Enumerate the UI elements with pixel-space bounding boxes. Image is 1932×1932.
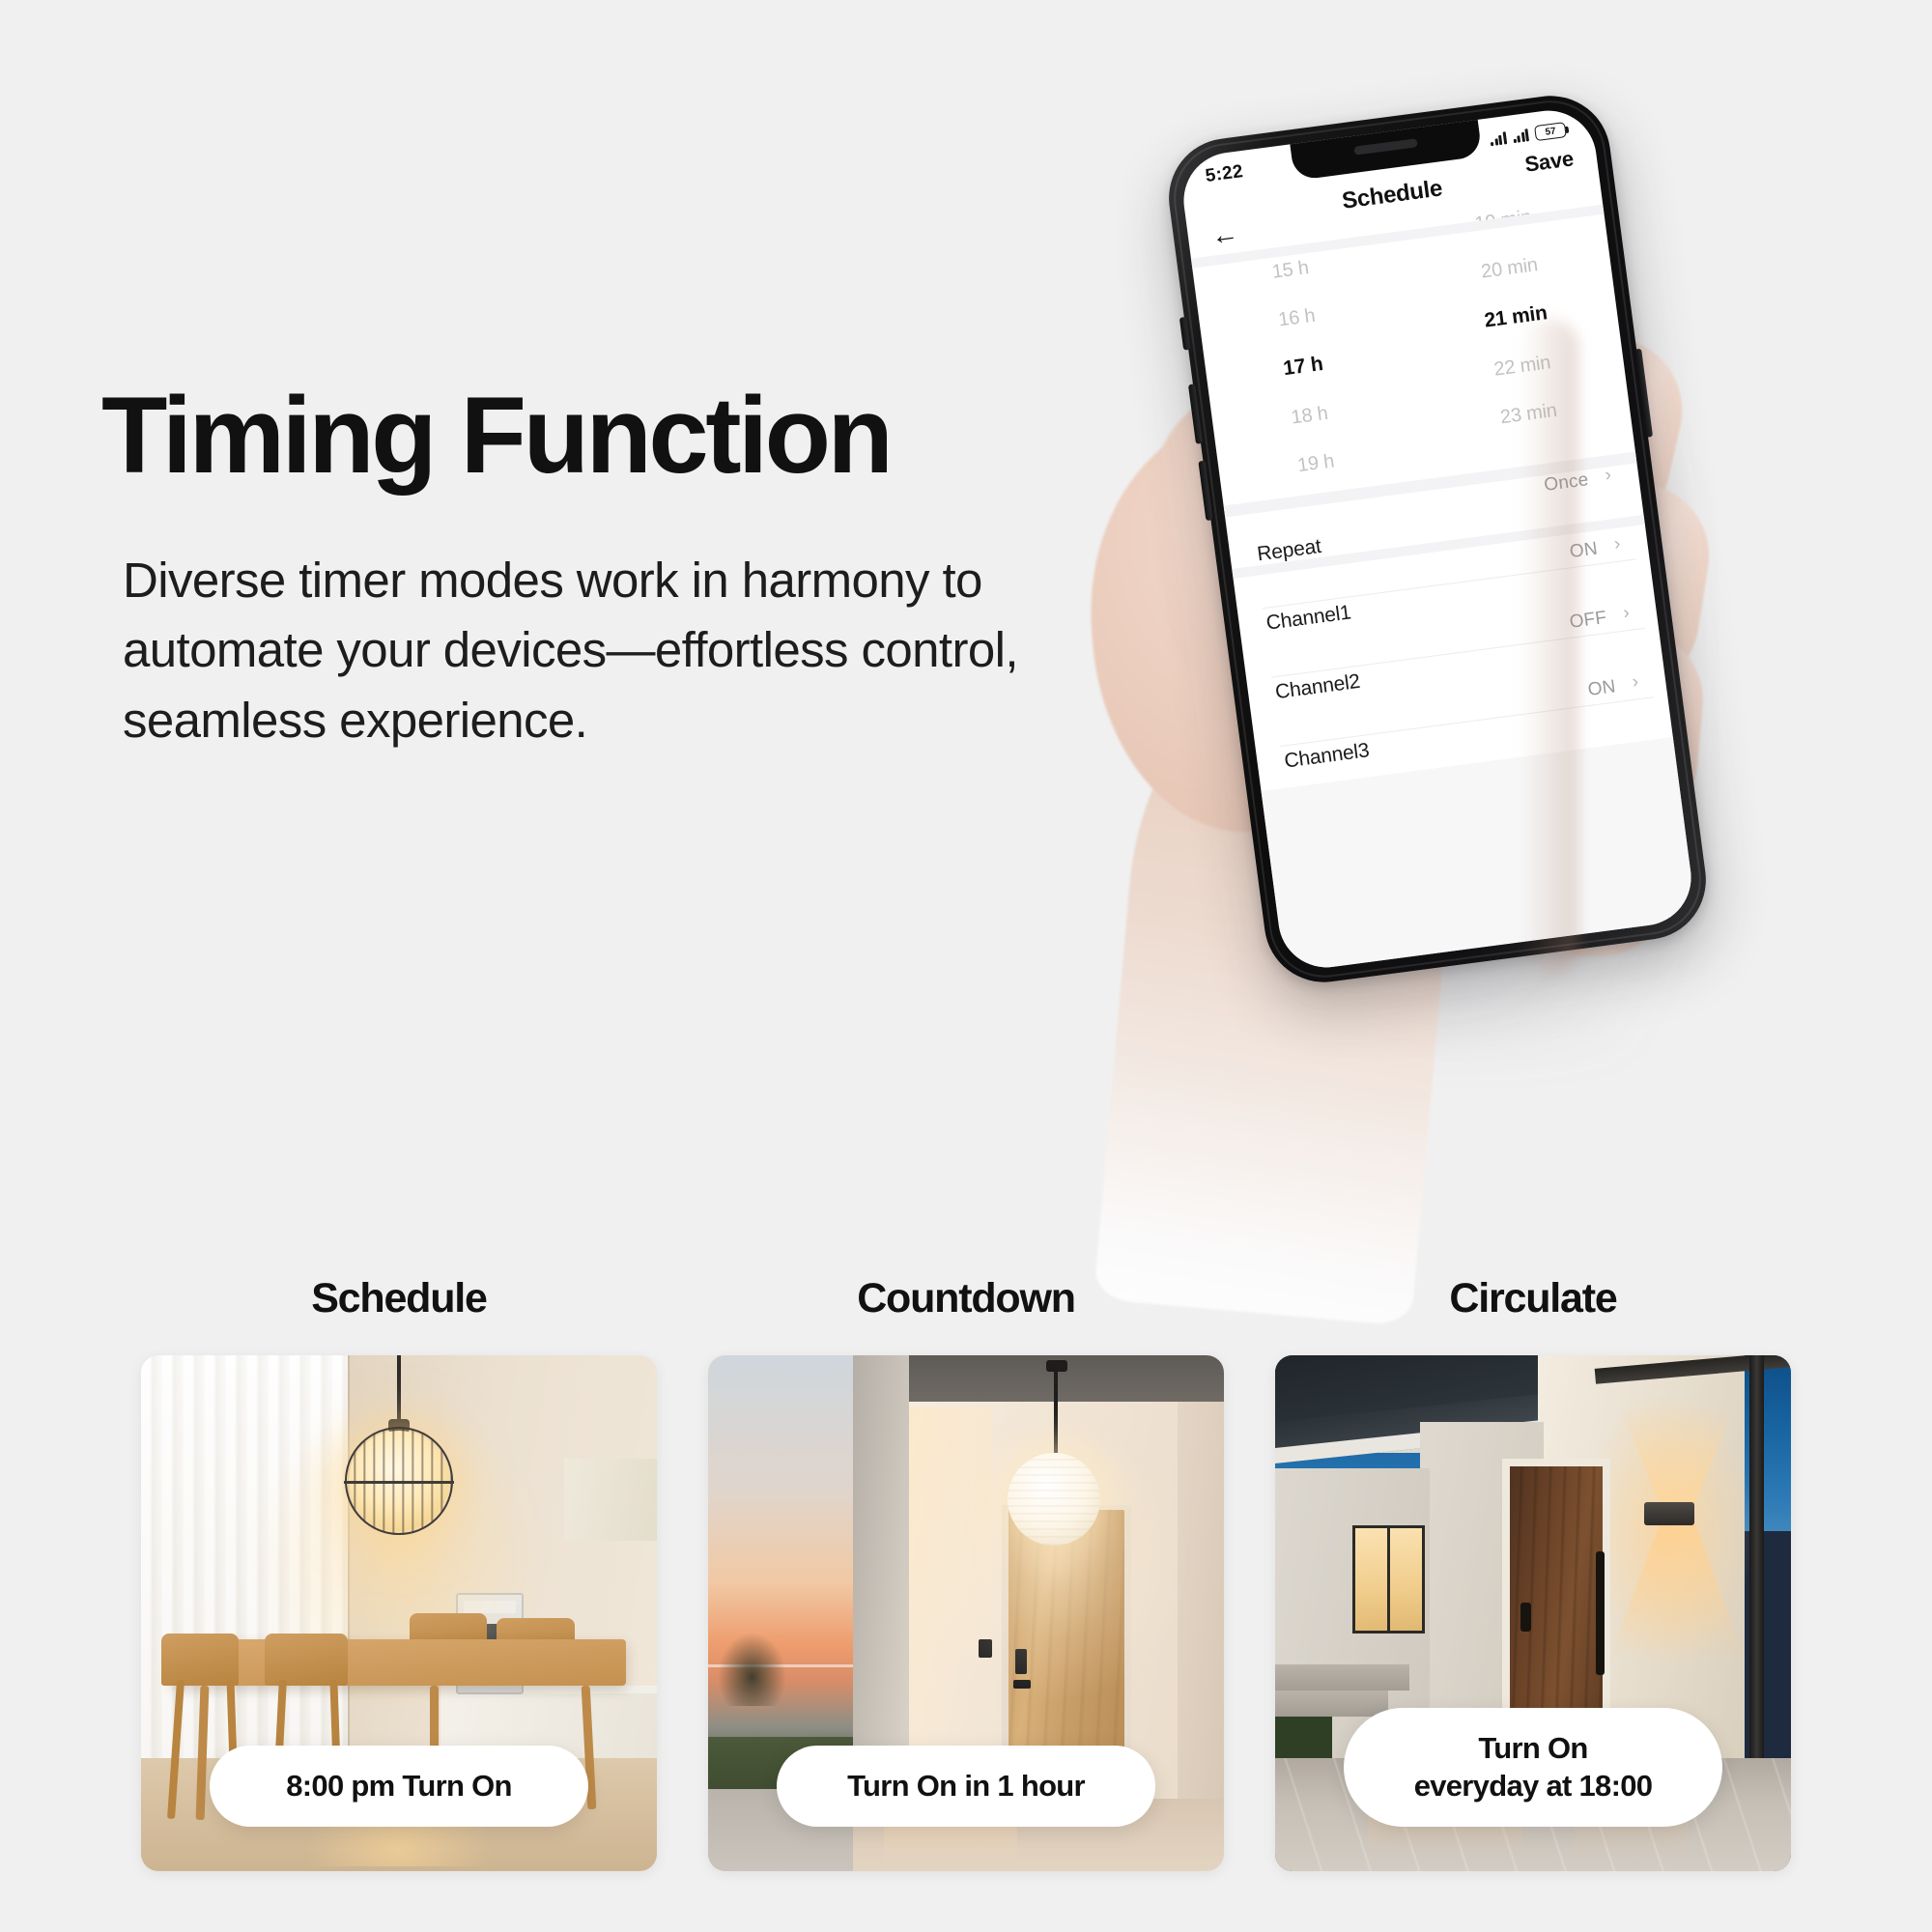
chevron-right-icon: › (1604, 465, 1612, 487)
settings-list: Once › Repeat ON › Channel1 OFF › Channe… (1225, 461, 1673, 791)
minute-option-selected[interactable]: 21 min (1408, 293, 1617, 343)
card-caption-pill: Turn On everyday at 18:00 (1344, 1708, 1722, 1827)
chevron-right-icon: › (1622, 603, 1631, 625)
feature-card-row: Schedule 8:00 pm Turn On Count (0, 1275, 1932, 1871)
page-title: Timing Function (101, 382, 1183, 490)
feature-card-countdown: Countdown Turn On in 1 hour (708, 1275, 1224, 1871)
feature-card-circulate: Circulate Turn On everyday at 1 (1275, 1275, 1791, 1871)
hour-option[interactable]: 16 h (1199, 293, 1407, 342)
card-image-house-exterior[interactable]: Turn On everyday at 18:00 (1275, 1355, 1791, 1871)
card-title: Schedule (141, 1275, 657, 1322)
dining-table (172, 1639, 626, 1686)
hour-option[interactable]: 18 h (1212, 390, 1421, 440)
card-image-entryway[interactable]: Turn On in 1 hour (708, 1355, 1224, 1871)
chevron-right-icon: › (1613, 533, 1622, 555)
card-image-dining-room[interactable]: 8:00 pm Turn On (141, 1355, 657, 1871)
hero-copy-block: Timing Function Diverse timer modes work… (101, 382, 1183, 755)
minute-option[interactable]: 20 min (1403, 244, 1611, 294)
battery-icon: 57 (1534, 122, 1567, 141)
minute-option[interactable]: 22 min (1415, 342, 1624, 391)
card-caption-pill: Turn On in 1 hour (777, 1746, 1155, 1827)
lit-window (1352, 1525, 1425, 1634)
hour-option[interactable]: 19 h (1218, 439, 1427, 488)
card-title: Circulate (1275, 1275, 1791, 1322)
card-caption-pill: 8:00 pm Turn On (210, 1746, 588, 1827)
card-title: Countdown (708, 1275, 1224, 1322)
finger-shadow (1520, 319, 1578, 976)
signal-bars-icon (1512, 128, 1529, 143)
status-bar-clock: 5:22 (1205, 161, 1245, 187)
hero-subcopy: Diverse timer modes work in harmony to a… (123, 546, 1183, 755)
battery-level: 57 (1545, 126, 1556, 137)
minute-picker-column[interactable]: 19 min 20 min 21 min 22 min 23 min (1398, 213, 1635, 479)
screen-title: Schedule (1341, 175, 1444, 214)
hour-option-selected[interactable]: 17 h (1206, 341, 1414, 391)
globe-pendant-lamp (1008, 1453, 1100, 1546)
hour-picker-column[interactable]: 15 h 16 h 17 h 18 h 19 h (1192, 240, 1430, 506)
row-value: ON (1586, 676, 1617, 701)
arrow-left-icon[interactable]: ← (1209, 219, 1239, 249)
feature-card-schedule: Schedule 8:00 pm Turn On (141, 1275, 657, 1871)
phone-in-hand-illustration: 5:22 57 Save Schedule ← 15 h (1130, 97, 1806, 1304)
wall-sconce-light (1644, 1502, 1694, 1525)
signal-bars-icon (1490, 131, 1507, 146)
chevron-right-icon: › (1631, 671, 1639, 694)
status-bar-indicators: 57 (1489, 122, 1568, 147)
